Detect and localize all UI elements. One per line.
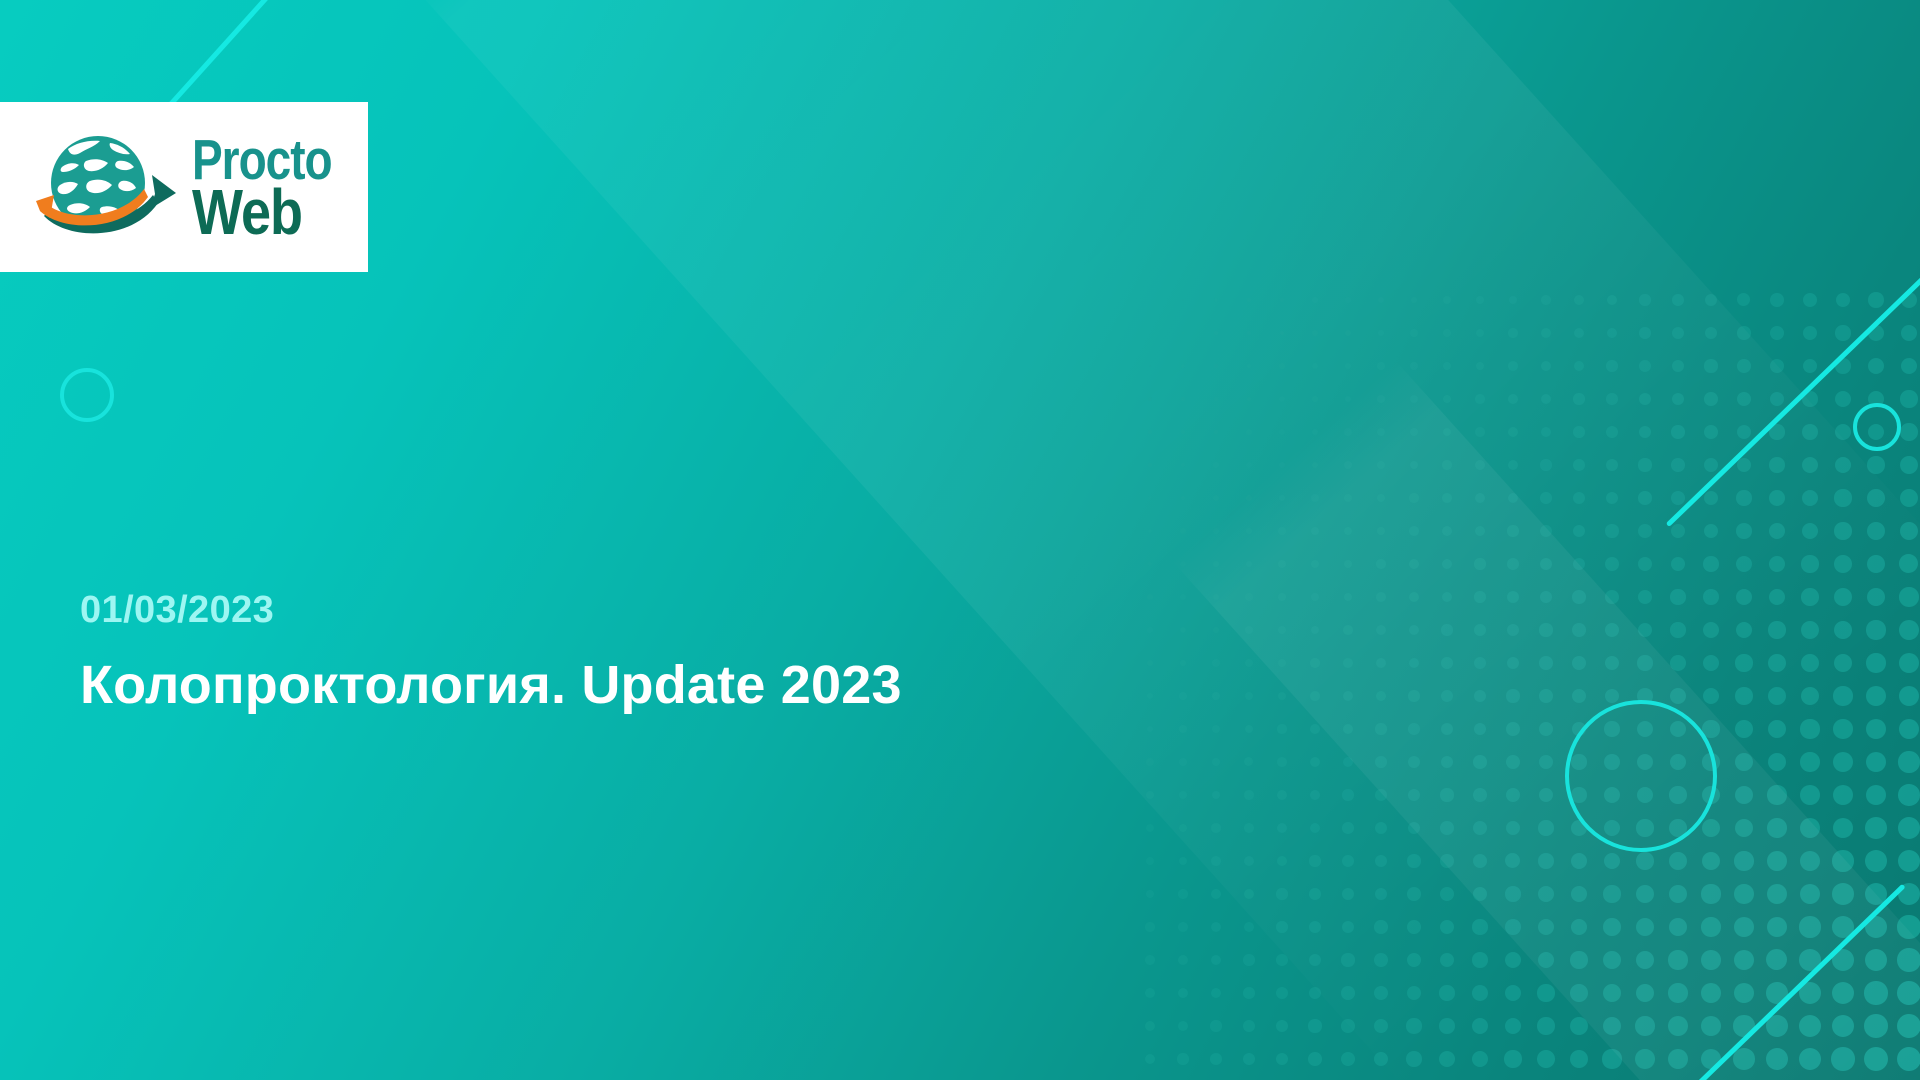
cyan-circle-outline-large — [1565, 700, 1717, 852]
cyan-circle-outline-left — [60, 368, 114, 422]
slide-date: 01/03/2023 — [80, 590, 1280, 632]
presentation-slide: Procto Web 01/03/2023 Колопроктология. U… — [0, 0, 1920, 1080]
diagonal-light-band-secondary — [1172, 360, 1920, 1080]
slide-text-block: 01/03/2023 Колопроктология. Update 2023 — [80, 590, 1280, 716]
proctoweb-logo-icon: Procto Web — [24, 123, 344, 251]
cyan-diagonal-line-bottom-right — [1499, 884, 1905, 1080]
diagonal-light-band — [415, 0, 1920, 1080]
proctoweb-logo-plate: Procto Web — [0, 102, 368, 272]
cyan-circle-outline-top-right — [1853, 403, 1901, 451]
svg-text:Web: Web — [192, 177, 302, 248]
cyan-diagonal-line-top-right — [1666, 197, 1920, 527]
slide-title: Колопроктология. Update 2023 — [80, 654, 1280, 716]
